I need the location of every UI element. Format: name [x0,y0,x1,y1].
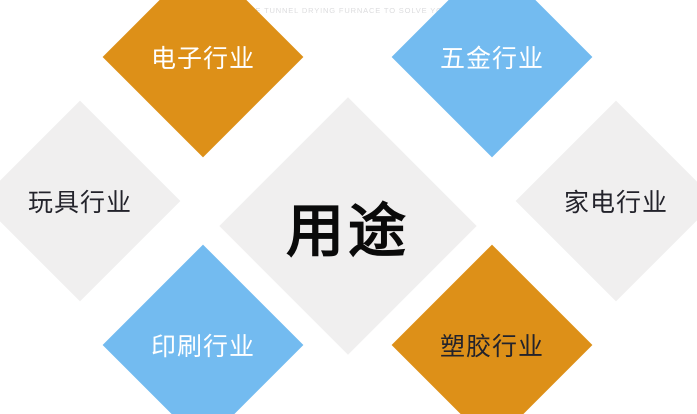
diamond-label-electronics: 电子行业 [151,39,255,75]
diamond-label-toys: 玩具行业 [28,183,132,219]
diamond-label-plastics: 塑胶行业 [440,327,544,363]
diamond-label-hardware: 五金行业 [440,39,544,75]
diamond-label-center-usage: 用途 [286,184,410,268]
diamond-node-home-appliance[interactable]: 家电行业 [516,101,697,302]
diamond-label-home-appliance: 家电行业 [564,183,668,219]
diamond-node-hardware[interactable]: 五金行业 [392,0,593,157]
usage-diagram-page: ESCHAIN PLATE TUNNEL DRYING FURNACE TO S… [0,0,697,414]
header-strip: ESCHAIN PLATE TUNNEL DRYING FURNACE TO S… [0,0,697,22]
diamond-label-printing: 印刷行业 [151,327,255,363]
diamond-grid: 玩具行业 家电行业 电子行业 五金行业 印刷行业 塑胶行业 用途 [0,22,697,414]
diamond-node-toys[interactable]: 玩具行业 [0,101,180,302]
diamond-node-electronics[interactable]: 电子行业 [103,0,304,157]
